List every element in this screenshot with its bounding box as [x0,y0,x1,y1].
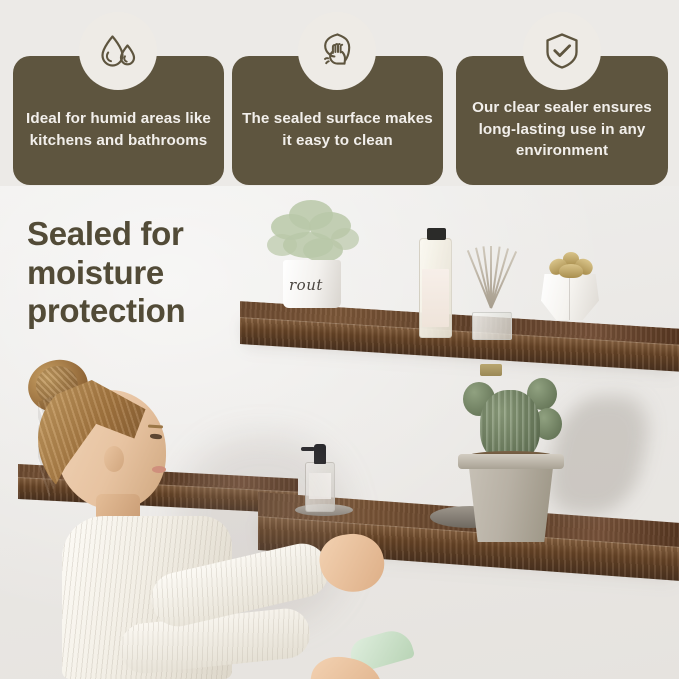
icon-bubble-humid-areas [79,12,157,90]
hand-wiping-cloth-icon [313,27,361,75]
feature-card-text: Ideal for humid areas like kitchens and … [23,108,214,151]
feature-card-text: The sealed surface makes it easy to clea… [242,108,433,151]
bottle-cap [427,228,446,240]
infographic-root: rout [0,0,679,679]
diffuser-jar [472,312,512,340]
ear [104,446,124,472]
bottle-label [422,269,449,327]
icon-bubble-long-lasting [523,12,601,90]
reed-diffuser [462,228,522,340]
diffuser-refill-bottle [419,238,452,338]
girl-figure [0,358,330,679]
feature-cards-row: Ideal for humid areas like kitchens and … [0,0,679,195]
feature-card-text: Our clear sealer ensures long-lasting us… [466,97,658,162]
white-planter-pot: rout [283,260,341,308]
shield-check-icon [538,27,586,75]
diffuser-neck [480,364,502,376]
pot-script-label: rout [289,276,323,294]
lips [152,466,166,473]
icon-bubble-easy-to-clean [298,12,376,90]
water-drops-icon [94,27,142,75]
cactus-concrete-pot [462,458,560,542]
headline-text: Sealed for moisture protection [27,215,257,331]
cactus-pot-rim [458,454,564,469]
gold-succulent [545,252,597,280]
greenery-foliage [265,198,365,268]
